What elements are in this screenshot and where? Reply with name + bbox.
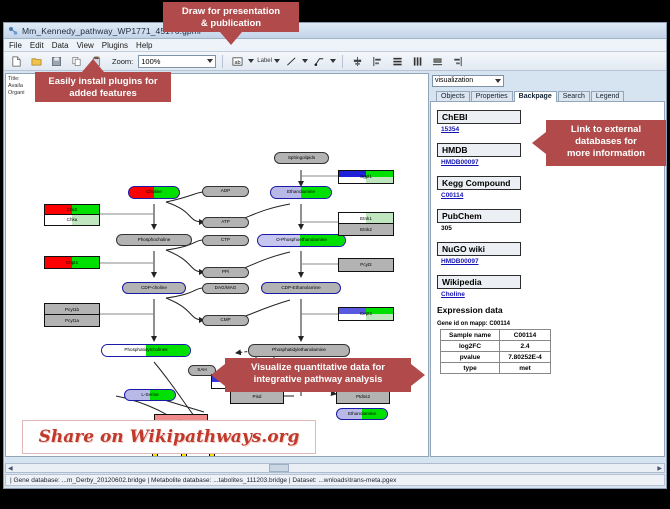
align-left-icon[interactable] — [369, 53, 386, 70]
expr-key-sample-name: Sample name — [441, 330, 500, 341]
chevron-down-icon[interactable] — [302, 59, 308, 63]
node-label: Cept1 — [339, 311, 393, 316]
distribute-horizontal-icon[interactable] — [409, 53, 426, 70]
db-value-pubchem: 305 — [441, 225, 664, 232]
table-row: Sample name C00114 — [441, 330, 551, 341]
gene-id-line: Gene id on mapp: C00114 — [437, 321, 664, 327]
open-folder-icon[interactable] — [28, 53, 45, 70]
node-chpt1[interactable]: Chpt1 — [44, 256, 100, 269]
callout-draw: Draw for presentation & publication — [163, 2, 299, 32]
callout-link-line1: Link to external — [552, 124, 660, 136]
zoom-combobox[interactable]: 100% — [138, 55, 216, 68]
pathway-canvas[interactable]: Title: Availa Organi — [5, 73, 429, 457]
db-link-kegg-compound[interactable]: C00114 — [441, 192, 664, 199]
status-bar-text: | Gene database: ...m_Derby_20120602.bri… — [10, 477, 396, 484]
callout-visualize-arrow-right — [411, 364, 425, 386]
node-dagmag[interactable]: DAG/MAG — [202, 283, 249, 294]
node-label: ADP — [221, 189, 230, 194]
chevron-down-icon — [207, 59, 213, 63]
node-label: Etnk1 — [339, 216, 393, 221]
line-tool-icon[interactable] — [283, 53, 300, 70]
info-availability-label: Availa — [8, 83, 25, 90]
toolbar-separator — [342, 55, 343, 68]
callout-plugins-line2: added features — [41, 88, 165, 100]
node-pcyt1a[interactable]: Pcyt1a — [44, 314, 100, 327]
db-entry-wikipedia: Wikipedia Choline — [437, 272, 664, 298]
node-label: PPi — [222, 270, 229, 275]
tab-legend[interactable]: Legend — [591, 91, 624, 101]
db-entry-pubchem: PubChem 305 — [437, 206, 664, 232]
node-cept1[interactable]: Cept1 — [338, 307, 394, 321]
node-label: CDP-choline — [141, 286, 167, 291]
scrollbar-thumb[interactable] — [269, 464, 289, 472]
align-bottom-icon[interactable] — [429, 53, 446, 70]
screenshot-root: Mm_Kennedy_pathway_WP1771_45176.gpml Fil… — [0, 0, 670, 509]
pathway-info-labels: Title: Availa Organi — [8, 76, 25, 97]
callout-plugins: Easily install plugins for added feature… — [35, 72, 171, 102]
node-sphingolipids[interactable]: Sphingolipids — [274, 152, 329, 164]
menu-data[interactable]: Data — [52, 41, 69, 50]
svg-text:ab: ab — [235, 59, 241, 65]
callout-draw-line2: & publication — [169, 18, 293, 30]
callout-plugins-line1: Easily install plugins for — [41, 76, 165, 88]
node-ppi[interactable]: PPi — [202, 267, 249, 278]
callout-link-arrow — [532, 132, 546, 154]
distribute-vertical-icon[interactable] — [389, 53, 406, 70]
text-label-dropdown[interactable]: ab — [229, 53, 254, 70]
expr-value-sample-name: C00114 — [500, 330, 551, 341]
node-phosphatidylethanolamine[interactable]: Phosphatidylethanolamine — [248, 344, 350, 357]
db-entry-nugo: NuGO wiki HMDB00097 — [437, 239, 664, 265]
visualization-value: visualization — [435, 77, 473, 84]
menubar: File Edit Data View Plugins Help — [4, 39, 666, 52]
callout-visualize-arrow-left — [211, 364, 225, 386]
expression-table: Sample name C00114 log2FC 2.4 pvalue 7.8… — [440, 329, 551, 374]
node-chka[interactable]: Chka — [44, 214, 100, 226]
menu-file[interactable]: File — [9, 41, 22, 50]
text-label-icon[interactable]: ab — [229, 53, 246, 70]
info-organism-label: Organi — [8, 90, 25, 97]
db-header-hmdb: HMDB — [437, 143, 521, 157]
new-file-icon[interactable] — [8, 53, 25, 70]
db-header-nugo-wiki: NuGO wiki — [437, 242, 521, 256]
db-header-chebi: ChEBI — [437, 110, 521, 124]
tab-properties[interactable]: Properties — [471, 91, 513, 101]
visualization-select[interactable]: visualization — [432, 75, 504, 87]
node-cmp[interactable]: CMP — [202, 315, 249, 326]
toolbar-separator — [222, 55, 223, 68]
table-row: log2FC 2.4 — [441, 341, 551, 352]
node-label: CMP — [220, 318, 230, 323]
menu-plugins[interactable]: Plugins — [102, 41, 128, 50]
node-label: Phosphocholine — [138, 238, 171, 243]
node-label: Chka — [45, 217, 99, 222]
menu-help[interactable]: Help — [136, 41, 152, 50]
node-label: CDP-Ethanolamine — [281, 286, 320, 291]
callout-plugins-arrow — [82, 59, 104, 72]
node-label: Pcyt1a — [45, 318, 99, 323]
node-label: Sgpl1 — [339, 174, 393, 179]
node-label: Ethanolamine — [348, 412, 376, 417]
scroll-right-icon[interactable]: ▶ — [655, 465, 664, 472]
callout-visualize-line2: integrative pathway analysis — [231, 374, 405, 386]
db-entry-kegg: Kegg Compound C00114 — [437, 173, 664, 199]
menu-edit[interactable]: Edit — [30, 41, 44, 50]
table-row: pvalue 7.80252E-4 — [441, 352, 551, 363]
db-link-nugo-wiki[interactable]: HMDB00097 — [441, 258, 664, 265]
node-label: Chkb — [45, 207, 99, 212]
callout-share: Share on Wikipathways.org — [22, 420, 316, 454]
callout-link-line2: databases for — [552, 136, 660, 148]
label-tool-icon[interactable]: Label — [257, 58, 272, 64]
db-link-wikipedia[interactable]: Choline — [441, 291, 664, 298]
node-label: ATP — [221, 220, 230, 225]
node-label: SAH — [197, 368, 206, 373]
align-center-icon[interactable] — [349, 53, 366, 70]
tab-objects[interactable]: Objects — [436, 91, 470, 101]
expr-value-type: met — [500, 363, 551, 374]
callout-draw-line1: Draw for presentation — [169, 6, 293, 18]
save-icon[interactable] — [48, 53, 65, 70]
zoom-value: 100% — [141, 57, 160, 66]
node-ethanolamine-top[interactable]: Ethanolamine — [270, 186, 332, 199]
node-label: Etnk2 — [339, 227, 393, 232]
node-label: Ethanolamine — [287, 190, 315, 195]
node-label: Sphingolipids — [288, 156, 315, 161]
side-panel-tabs: Objects Properties Backpage Search Legen… — [430, 88, 665, 102]
tab-backpage[interactable]: Backpage — [514, 91, 557, 102]
chevron-down-icon — [495, 79, 501, 83]
node-phosphatidylcholines[interactable]: Phosphatidylcholines — [101, 344, 191, 357]
node-phosphocholine[interactable]: Phosphocholine — [116, 234, 192, 246]
node-ctp[interactable]: CTP — [202, 235, 249, 246]
node-etnk2[interactable]: Etnk2 — [338, 223, 394, 236]
node-label: Pcyt2 — [339, 262, 393, 267]
callout-draw-arrow — [220, 32, 242, 45]
node-label: O-Phosphoethanolamine — [276, 238, 327, 243]
node-cdp-ethanolamine[interactable]: CDP-Ethanolamine — [261, 282, 341, 294]
menu-view[interactable]: View — [77, 41, 94, 50]
node-choline-top[interactable]: Choline — [128, 186, 180, 199]
node-pcyt2[interactable]: Pcyt2 — [338, 258, 394, 272]
line-tool-dropdown[interactable] — [283, 53, 308, 70]
node-label: Phosphatidylcholines — [124, 348, 167, 353]
callout-share-text: Share on Wikipathways.org — [39, 427, 300, 447]
scroll-left-icon[interactable]: ◀ — [6, 465, 15, 472]
pathvisio-icon — [8, 26, 18, 36]
horizontal-scrollbar[interactable]: ◀ ▶ — [5, 463, 665, 473]
node-label: Pcyt1b — [45, 307, 99, 312]
chevron-down-icon[interactable] — [274, 59, 280, 63]
node-adp[interactable]: ADP — [202, 186, 249, 197]
interaction-tool-dropdown[interactable] — [311, 53, 336, 70]
node-atp[interactable]: ATP — [202, 217, 249, 228]
node-label: Pisd — [231, 394, 283, 399]
callout-visualize: Visualize quantitative data for integrat… — [225, 358, 411, 392]
expr-key-type: type — [441, 363, 500, 374]
status-bar: | Gene database: ...m_Derby_20120602.bri… — [5, 474, 665, 486]
node-label: Phosphatidylethanolamine — [272, 348, 326, 353]
node-o-phosphoethanolamine[interactable]: O-Phosphoethanolamine — [257, 234, 346, 247]
expr-key-log2fc: log2FC — [441, 341, 500, 352]
expr-value-log2fc: 2.4 — [500, 341, 551, 352]
window-titlebar: Mm_Kennedy_pathway_WP1771_45176.gpml — [4, 23, 666, 39]
zoom-label: Zoom: — [112, 57, 133, 66]
visualization-row: visualization — [430, 73, 665, 88]
db-header-pubchem: PubChem — [437, 209, 521, 223]
table-row: type met — [441, 363, 551, 374]
callout-visualize-line1: Visualize quantitative data for — [231, 362, 405, 374]
db-header-wikipedia: Wikipedia — [437, 275, 521, 289]
callout-link-line3: more information — [552, 148, 660, 160]
node-label: Choline — [146, 190, 162, 195]
node-label: L-Serine — [141, 393, 158, 398]
tab-search[interactable]: Search — [558, 91, 590, 101]
node-label: Ptdss2 — [337, 394, 389, 399]
node-cdp-choline[interactable]: CDP-choline — [122, 282, 186, 294]
db-header-kegg-compound: Kegg Compound — [437, 176, 521, 190]
expr-key-pvalue: pvalue — [441, 352, 500, 363]
node-label: DAG/MAG — [215, 286, 237, 291]
node-sgpl1[interactable]: Sgpl1 — [338, 170, 394, 184]
node-label: CTP — [221, 238, 230, 243]
expression-data-heading: Expression data — [437, 305, 664, 315]
interaction-tool-icon[interactable] — [311, 53, 328, 70]
label-tool-dropdown[interactable]: Label — [257, 58, 280, 64]
chevron-down-icon[interactable] — [248, 59, 254, 63]
node-l-serine-left[interactable]: L-Serine — [124, 389, 176, 401]
chevron-down-icon[interactable] — [330, 59, 336, 63]
node-label: Chpt1 — [45, 260, 99, 265]
info-title-label: Title: — [8, 76, 25, 83]
expr-value-pvalue: 7.80252E-4 — [500, 352, 551, 363]
callout-link: Link to external databases for more info… — [546, 120, 666, 166]
align-right-icon[interactable] — [449, 53, 466, 70]
node-ethanolamine-bottom[interactable]: Ethanolamine — [336, 408, 388, 420]
